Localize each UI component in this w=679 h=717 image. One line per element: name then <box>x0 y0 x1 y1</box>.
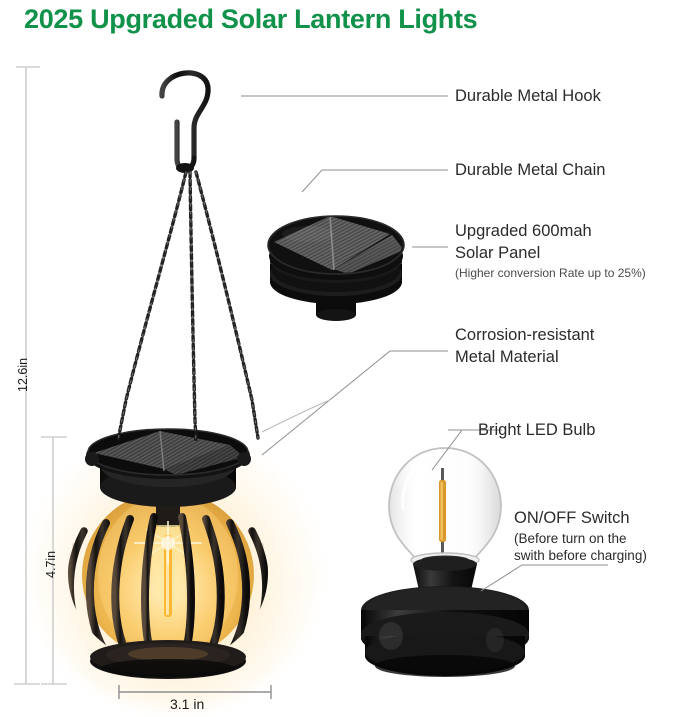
callout-durable-metal-hook: Durable Metal Hook <box>455 86 601 106</box>
callout-solar-panel-line2: Solar Panel <box>455 243 540 263</box>
callout-bright-led-bulb: Bright LED Bulb <box>478 420 595 440</box>
metal-hook-and-chain-art <box>150 62 270 192</box>
callout-durable-metal-chain: Durable Metal Chain <box>455 160 605 180</box>
dimension-width: 3.1 in <box>170 696 204 712</box>
infographic-canvas: 2025 Upgraded Solar Lantern Lights <box>0 0 679 717</box>
solar-panel-art <box>258 212 414 332</box>
callout-solar-panel-sub: (Higher conversion Rate up to 25%) <box>455 266 646 281</box>
callout-solar-panel-line1: Upgraded 600mah <box>455 221 592 241</box>
dimension-body-height: 4.7in <box>44 551 58 578</box>
lantern-art <box>48 425 288 690</box>
callout-metal-material-line2: Metal Material <box>455 347 559 367</box>
dimension-total-height: 12.6in <box>16 358 30 392</box>
callout-onoff-switch-sub2: swith before charging) <box>514 547 647 564</box>
product-illustration <box>0 0 679 717</box>
callout-onoff-switch-title: ON/OFF Switch <box>514 508 630 528</box>
callout-metal-material-line1: Corrosion-resistant <box>455 325 594 345</box>
callout-onoff-switch-sub1: (Before turn on the <box>514 530 627 547</box>
